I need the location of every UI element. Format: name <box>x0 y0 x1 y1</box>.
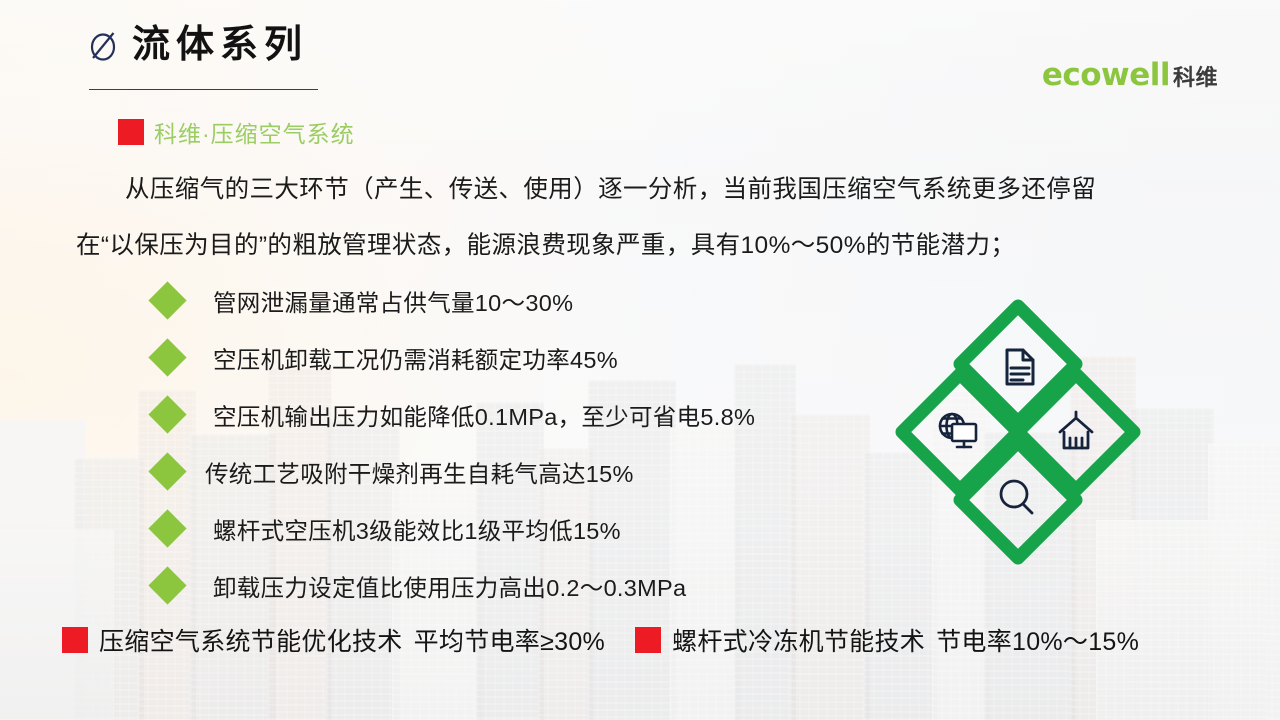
clover-diamond-bottom <box>960 442 1076 558</box>
bullet-list: 管网泄漏量通常占供气量10～30% 空压机卸载工况仍需消耗额定功率45% 空压机… <box>152 272 755 614</box>
footer-item-1-value: 平均节电率≥30% <box>414 622 605 658</box>
list-item: 传统工艺吸附干燥剂再生自耗气高达15% <box>152 443 755 500</box>
clover-diamonds-icon <box>884 298 1152 566</box>
clover-diamond-right <box>1018 374 1134 490</box>
section-heading-label: 科维·压缩空气系统 <box>154 115 355 149</box>
section-heading: 科维·压缩空气系统 <box>118 115 355 149</box>
list-item-label: 传统工艺吸附干燥剂再生自耗气高达15% <box>205 455 634 489</box>
brand-name-latin: ecowell <box>1042 60 1170 91</box>
footer-item-1: 压缩空气系统节能优化技术 平均节电率≥30% <box>62 622 605 658</box>
diamond-bullet-icon <box>148 509 186 547</box>
slide-canvas: 流体系列 ecowell 科维 科维·压缩空气系统 从压缩气的三大环节（产生、传… <box>0 0 1280 720</box>
footer-item-2: 螺杆式冷冻机节能技术 节电率10%～15% <box>635 622 1139 658</box>
clover-diamond-top <box>960 306 1076 422</box>
footer-item-2-label: 螺杆式冷冻机节能技术 <box>672 622 925 658</box>
footer-item-1-label: 压缩空气系统节能优化技术 <box>99 622 403 658</box>
brand-logo: ecowell 科维 <box>1042 60 1218 91</box>
list-item-label: 螺杆式空压机3级能效比1级平均低15% <box>213 512 621 546</box>
red-square-marker-icon <box>635 627 661 653</box>
list-item-label: 空压机输出压力如能降低0.1MPa，至少可省电5.8% <box>213 398 755 432</box>
red-square-marker-icon <box>62 627 88 653</box>
diamond-bullet-icon <box>148 452 186 490</box>
red-square-marker-icon <box>118 119 144 145</box>
page-header: 流体系列 <box>88 26 308 64</box>
paragraph-line-2: 在“以保压为目的”的粗放管理状态，能源浪费现象严重，具有10%～50%的节能潜力… <box>76 232 1015 259</box>
diamond-bullet-icon <box>148 338 186 376</box>
list-item: 管网泄漏量通常占供气量10～30% <box>152 272 755 329</box>
list-item-label: 卸载压力设定值比使用压力高出0.2～0.3MPa <box>213 569 686 603</box>
diamond-bullet-icon <box>148 395 186 433</box>
magnifier-icon <box>1001 481 1032 513</box>
footer-item-2-value: 节电率10%～15% <box>936 622 1139 658</box>
circle-slash-icon <box>88 27 118 63</box>
list-item: 螺杆式空压机3级能效比1级平均低15% <box>152 500 755 557</box>
clover-graphic <box>884 298 1152 566</box>
home-icon <box>1060 412 1092 448</box>
brand-name-cn: 科维 <box>1173 67 1218 89</box>
list-item: 空压机输出压力如能降低0.1MPa，至少可省电5.8% <box>152 386 755 443</box>
list-item: 卸载压力设定值比使用压力高出0.2～0.3MPa <box>152 557 755 614</box>
page-title: 流体系列 <box>132 26 308 64</box>
globe-monitor-icon <box>940 414 976 447</box>
list-item: 空压机卸载工况仍需消耗额定功率45% <box>152 329 755 386</box>
list-item-label: 空压机卸载工况仍需消耗额定功率45% <box>213 341 618 375</box>
footer-highlights: 压缩空气系统节能优化技术 平均节电率≥30% 螺杆式冷冻机节能技术 节电率10%… <box>62 622 1252 658</box>
title-divider <box>89 89 318 90</box>
paragraph-line-1: 从压缩气的三大环节（产生、传送、使用）逐一分析，当前我国压缩空气系统更多还停留 <box>125 176 1096 203</box>
diamond-bullet-icon <box>148 281 186 319</box>
list-item-label: 管网泄漏量通常占供气量10～30% <box>213 284 573 318</box>
document-icon <box>1007 350 1033 384</box>
body-paragraph: 从压缩气的三大环节（产生、传送、使用）逐一分析，当前我国压缩空气系统更多还停留 … <box>76 162 1206 274</box>
diamond-bullet-icon <box>148 566 186 604</box>
